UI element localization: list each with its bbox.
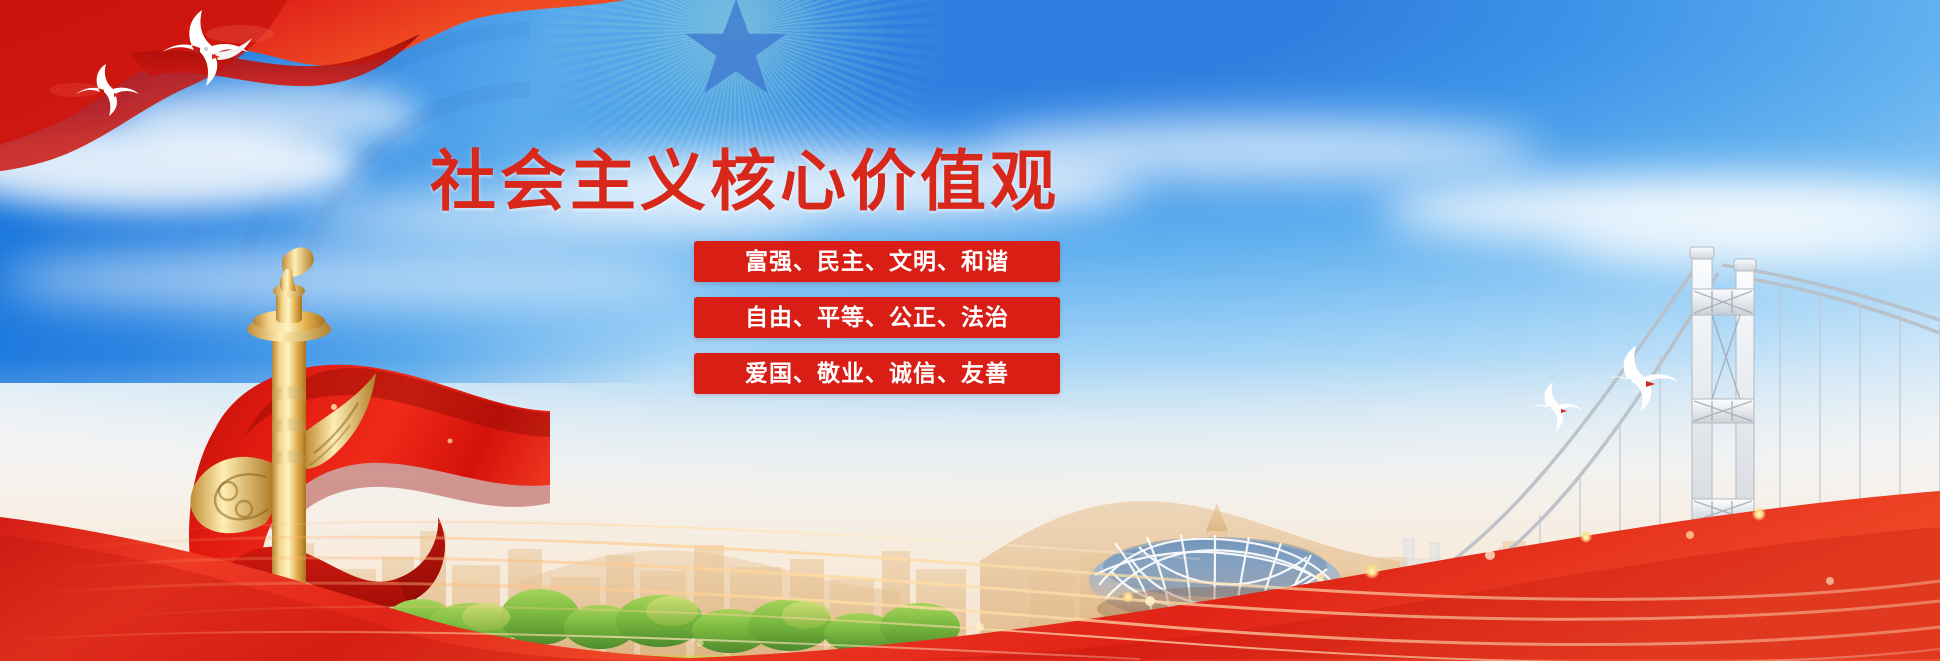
slogan-box-3[interactable]: 爱国、敬业、诚信、友善 xyxy=(694,353,1060,394)
sparkle xyxy=(1122,591,1134,603)
sparkle xyxy=(1364,563,1380,579)
dove-icon xyxy=(1512,378,1590,434)
slogan-text-1: 富强、民主、文明、和谐 xyxy=(745,250,1009,273)
sparkle xyxy=(1580,531,1592,543)
slogan-text-2: 自由、平等、公正、法治 xyxy=(745,306,1009,329)
bottom-red-ribbon xyxy=(0,431,1940,661)
cloud xyxy=(980,120,1540,180)
banner-root: 社会主义核心价值观 富强、民主、文明、和谐 自由、平等、公正、法治 爱国、敬业、… xyxy=(0,0,1940,661)
page-title: 社会主义核心价值观 xyxy=(430,146,1060,217)
slogan-list: 富强、民主、文明、和谐 自由、平等、公正、法治 爱国、敬业、诚信、友善 xyxy=(694,241,1060,409)
slogan-box-2[interactable]: 自由、平等、公正、法治 xyxy=(694,297,1060,338)
slogan-box-1[interactable]: 富强、民主、文明、和谐 xyxy=(694,241,1060,282)
dove-icon xyxy=(1578,340,1686,416)
sparkle xyxy=(1752,507,1766,521)
star-icon xyxy=(680,0,792,102)
slogan-text-3: 爱国、敬业、诚信、友善 xyxy=(745,362,1009,385)
dove-icon xyxy=(60,58,146,120)
dove-icon xyxy=(140,2,260,94)
